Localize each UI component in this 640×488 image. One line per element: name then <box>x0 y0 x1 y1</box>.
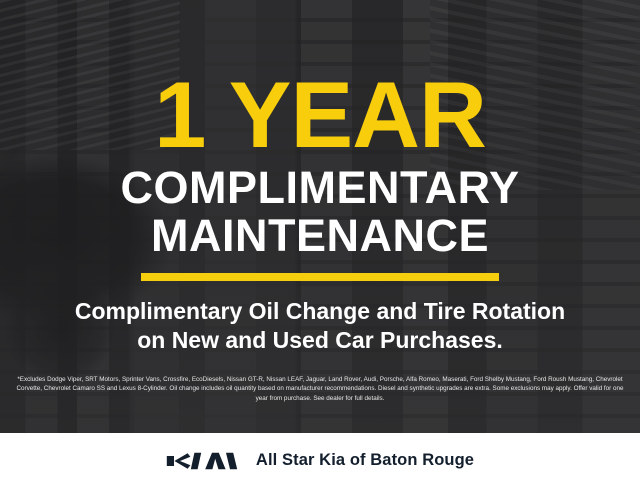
promo-description: Complimentary Oil Change and Tire Rotati… <box>75 297 565 356</box>
yellow-divider <box>141 273 499 281</box>
promotional-advertisement: 1 YEAR COMPLIMENTARY MAINTENANCE Complim… <box>0 0 640 488</box>
headline-secondary: COMPLIMENTARY MAINTENANCE <box>121 164 520 259</box>
hero-banner: 1 YEAR COMPLIMENTARY MAINTENANCE Complim… <box>0 0 640 433</box>
dealer-name: All Star Kia of Baton Rouge <box>256 451 474 470</box>
disclaimer-text: *Excludes Dodge Viper, SRT Motors, Sprin… <box>11 375 629 404</box>
headline-secondary-line-1: COMPLIMENTARY <box>121 164 520 212</box>
headline-secondary-line-2: MAINTENANCE <box>121 212 520 260</box>
headline-primary: 1 YEAR <box>154 72 486 158</box>
dealer-footer: All Star Kia of Baton Rouge <box>0 433 640 488</box>
kia-wordmark-logo-icon <box>166 450 238 472</box>
hero-content: 1 YEAR COMPLIMENTARY MAINTENANCE Complim… <box>0 0 640 433</box>
promo-line-2: on New and Used Car Purchases. <box>75 326 565 355</box>
promo-line-1: Complimentary Oil Change and Tire Rotati… <box>75 297 565 326</box>
